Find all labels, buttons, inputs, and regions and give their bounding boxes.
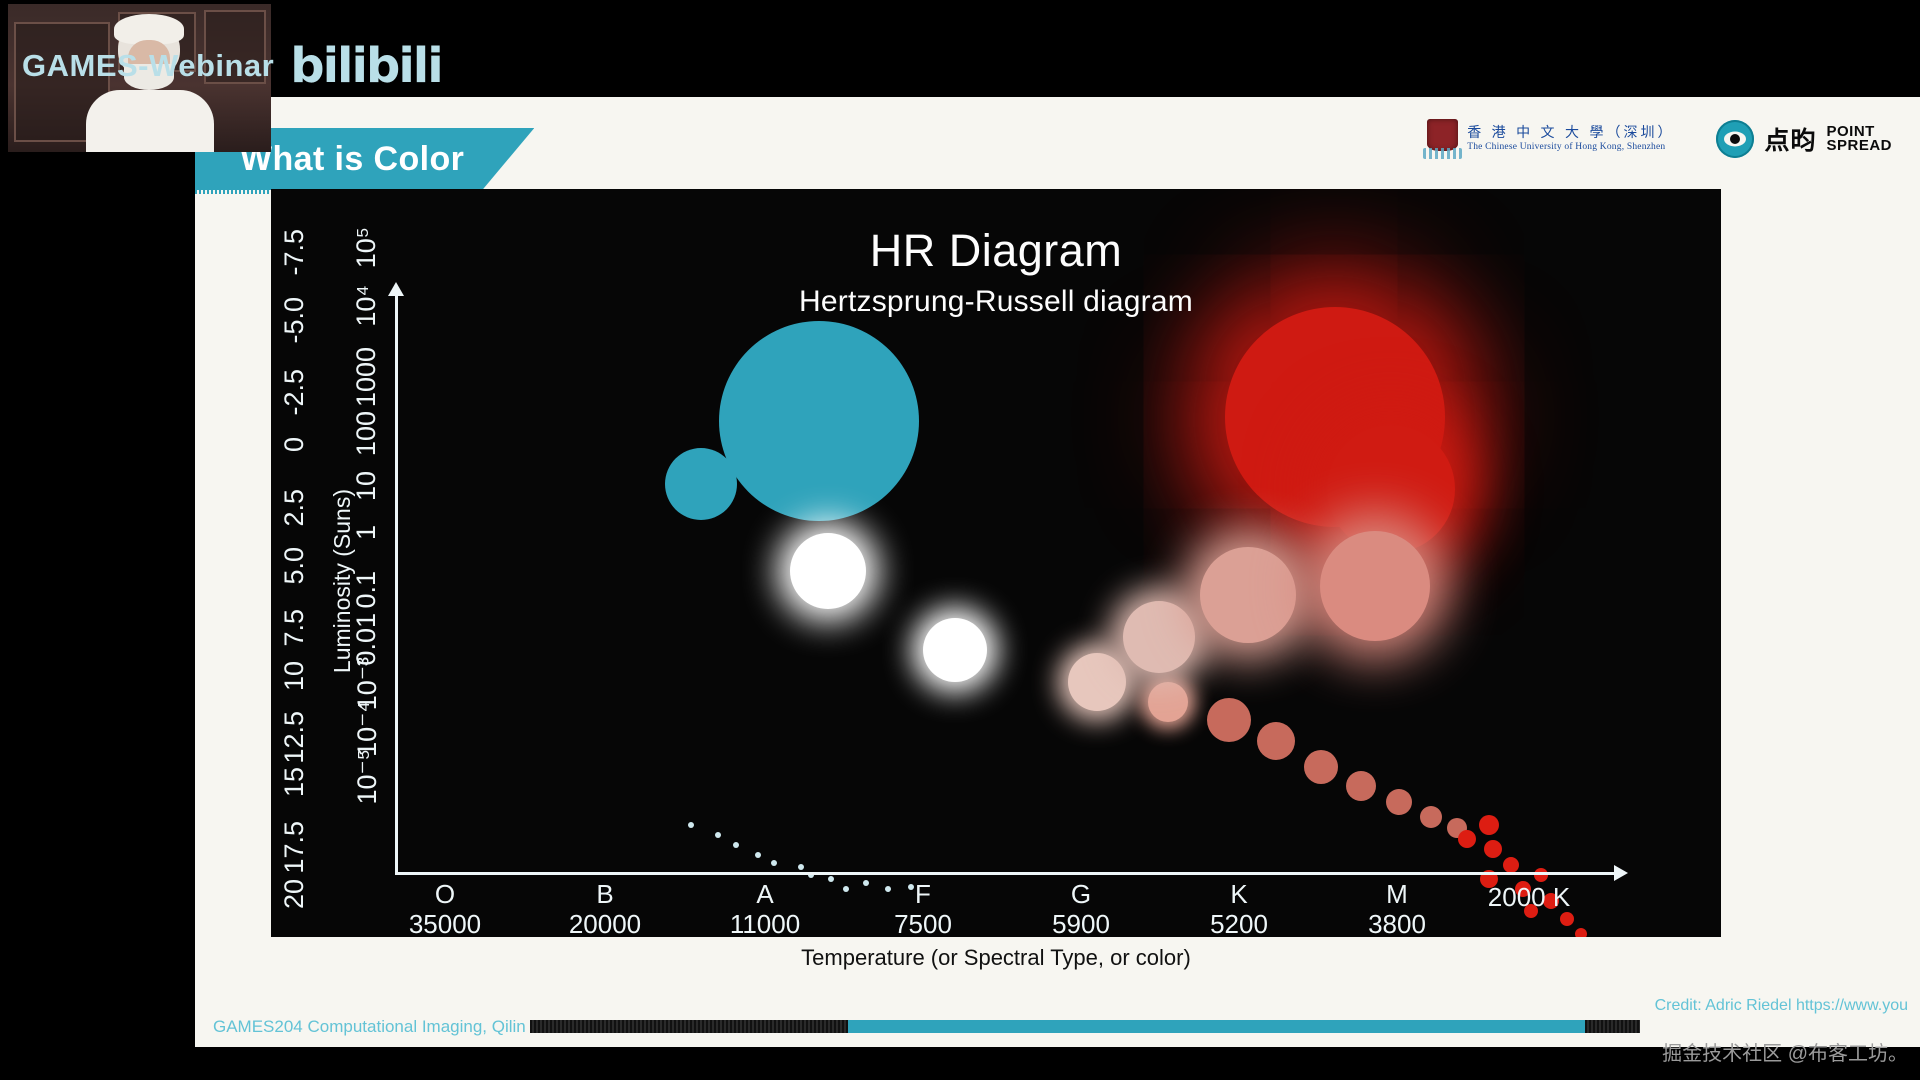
cuhk-shield-icon [1427,119,1458,159]
temperature-label: 2000 K [1488,881,1570,914]
magnitude-tick: 2.5 [279,489,310,527]
star-marker [1479,815,1499,835]
luminosity-tick: 10⁵ [351,227,382,268]
x-axis-tick: O35000 [409,881,481,937]
cuhk-logo: 香 港 中 文 大 學（深圳） The Chinese University o… [1427,119,1674,159]
magnitude-tick: 12.5 [279,711,310,764]
page-title: What is Color [240,140,464,179]
magnitude-tick: 15 [279,767,310,797]
x-axis-tick: A11000 [730,881,800,937]
logo-row: 香 港 中 文 大 學（深圳） The Chinese University o… [1427,119,1892,159]
star-marker [1420,806,1442,828]
star-marker [665,448,737,520]
bilibili-logo: bilibili [290,38,441,94]
y-axis-title: Luminosity (Suns) [329,489,356,673]
magnitude-tick: 17.5 [279,821,310,874]
cuhk-name-cn: 香 港 中 文 大 學（深圳） [1467,126,1674,142]
x-axis-ticks: O35000B20000A11000F7500G5900K5200M380020… [271,875,1721,937]
x-axis-tick: G5900 [1052,881,1110,937]
star-marker [923,618,987,682]
figure-title-block: HR Diagram Hertzsprung-Russell diagram [271,225,1721,319]
luminosity-tick: 10⁻⁵ [351,749,383,804]
course-footer-text: GAMES204 Computational Imaging, Qilin Su… [213,1017,561,1037]
slide-progress-bar[interactable] [530,1020,1640,1033]
star-marker [1123,601,1195,673]
y-axis-line [395,295,398,875]
star-marker [755,852,761,858]
magnitude-tick: 5.0 [279,547,310,585]
star-marker [1068,653,1126,711]
x-axis-tick: 2000 K [1488,881,1570,914]
x-axis-tick: F7500 [894,881,952,937]
site-watermark: 掘金技术社区 @布客工坊。 [1662,1037,1908,1066]
watermark-label: GAMES-Webinar [22,48,274,84]
magnitude-tick: -7.5 [279,229,310,276]
star-marker [1503,857,1519,873]
star-marker [688,822,694,828]
point-spread-line2: SPREAD [1826,139,1892,153]
star-marker [1458,830,1476,848]
temperature-label: 5900 [1052,908,1110,937]
temperature-label: 3800 [1368,908,1426,937]
star-marker [1200,547,1296,643]
star-marker [715,832,721,838]
star-marker [771,860,777,866]
luminosity-tick: 1000 [351,347,382,407]
star-marker [1386,789,1412,815]
star-marker [1257,722,1295,760]
chart-title: HR Diagram [271,225,1721,277]
magnitude-tick: -2.5 [279,369,310,416]
star-marker [1346,771,1376,801]
point-spread-logo: 点昀 POINT SPREAD [1716,120,1892,158]
temperature-label: 5200 [1210,908,1268,937]
star-marker [1484,840,1502,858]
x-axis-title: Temperature (or Spectral Type, or color) [271,945,1721,971]
progress-tail [1585,1020,1640,1033]
star-marker [1304,750,1338,784]
hr-diagram-figure: HR Diagram Hertzsprung-Russell diagram -… [271,189,1721,937]
spectral-type-label: M [1368,881,1426,908]
spectral-type-label: B [569,881,641,908]
x-axis-tick: K5200 [1210,881,1268,937]
spectral-type-label: F [894,881,952,908]
credit-text: Credit: Adric Riedel https://www.you [1655,997,1908,1015]
magnitude-tick: 0 [279,437,310,452]
point-spread-name-cn: 点昀 [1764,121,1816,157]
star-marker [733,842,739,848]
spectral-type-label: A [730,881,800,908]
star-marker [1320,531,1430,641]
magnitude-tick: -5.0 [279,297,310,344]
star-marker [798,864,804,870]
magnitude-tick: 7.5 [279,609,310,647]
magnitude-tick: 10 [279,661,310,691]
x-axis-tick: M3800 [1368,881,1426,937]
luminosity-tick: 10⁴ [351,285,382,327]
slide-canvas: 香 港 中 文 大 學（深圳） The Chinese University o… [195,97,1920,1047]
cuhk-name-en: The Chinese University of Hong Kong, She… [1467,142,1674,153]
star-marker [719,321,919,521]
temperature-label: 35000 [409,908,481,937]
chart-subtitle: Hertzsprung-Russell diagram [271,285,1721,319]
spectral-type-label: K [1210,881,1268,908]
spectral-type-label: O [409,881,481,908]
temperature-label: 7500 [894,908,952,937]
spectral-type-label: G [1052,881,1110,908]
luminosity-tick: 100 [351,411,382,456]
screen: 香 港 中 文 大 學（深圳） The Chinese University o… [0,0,1920,1080]
star-marker [790,533,866,609]
x-axis-tick: B20000 [569,881,641,937]
stream-watermark: GAMES-Webinar bilibili [22,38,442,94]
temperature-label: 11000 [730,908,800,937]
star-marker [1148,682,1188,722]
temperature-label: 20000 [569,908,641,937]
progress-elapsed [530,1020,848,1033]
eye-icon [1716,120,1754,158]
star-marker [1207,698,1251,742]
